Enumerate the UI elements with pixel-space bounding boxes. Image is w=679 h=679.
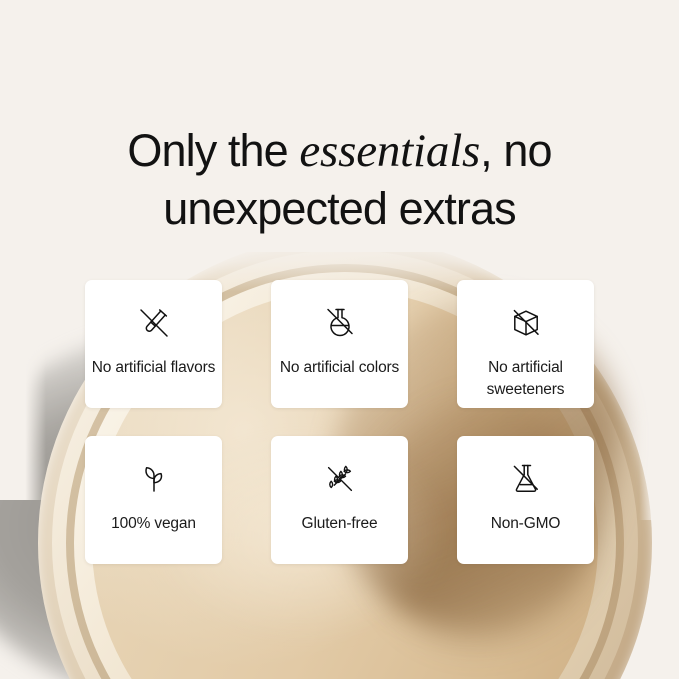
badge-label: No artificial sweeteners	[457, 357, 594, 401]
badge-label: Non-GMO	[485, 513, 567, 535]
claims-grid: No artificial flavors No artificial colo…	[85, 280, 595, 564]
badge-card-no-artificial-flavors: No artificial flavors	[85, 280, 222, 408]
sprout-icon	[133, 458, 175, 500]
headline-text-before: Only the	[127, 125, 299, 176]
left-background-wash	[0, 200, 46, 500]
badge-label: Gluten-free	[296, 513, 384, 535]
flask-round-slashed-icon	[319, 302, 361, 344]
promo-graphic: Only the essentials, no unexpected extra…	[0, 0, 679, 679]
badge-card-gluten-free: Gluten-free	[271, 436, 408, 564]
headline-emphasis: essentials	[299, 125, 480, 177]
sugar-cube-slashed-icon	[505, 302, 547, 344]
headline-line-2: unexpected extras	[0, 180, 679, 238]
conical-flask-slashed-icon	[505, 458, 547, 500]
badge-card-no-artificial-colors: No artificial colors	[271, 280, 408, 408]
wheat-slashed-icon	[319, 458, 361, 500]
badge-card-no-artificial-sweeteners: No artificial sweeteners	[457, 280, 594, 408]
page-title: Only the essentials, no unexpected extra…	[0, 122, 679, 238]
headline-text-after: , no	[480, 125, 551, 176]
headline-line-1: Only the essentials, no	[0, 122, 679, 180]
test-tube-slashed-icon	[133, 302, 175, 344]
badge-label: No artificial colors	[274, 357, 405, 379]
badge-label: 100% vegan	[105, 513, 202, 535]
badge-card-vegan: 100% vegan	[85, 436, 222, 564]
right-background-wash	[639, 200, 679, 520]
badge-label: No artificial flavors	[86, 357, 221, 379]
badge-card-non-gmo: Non-GMO	[457, 436, 594, 564]
